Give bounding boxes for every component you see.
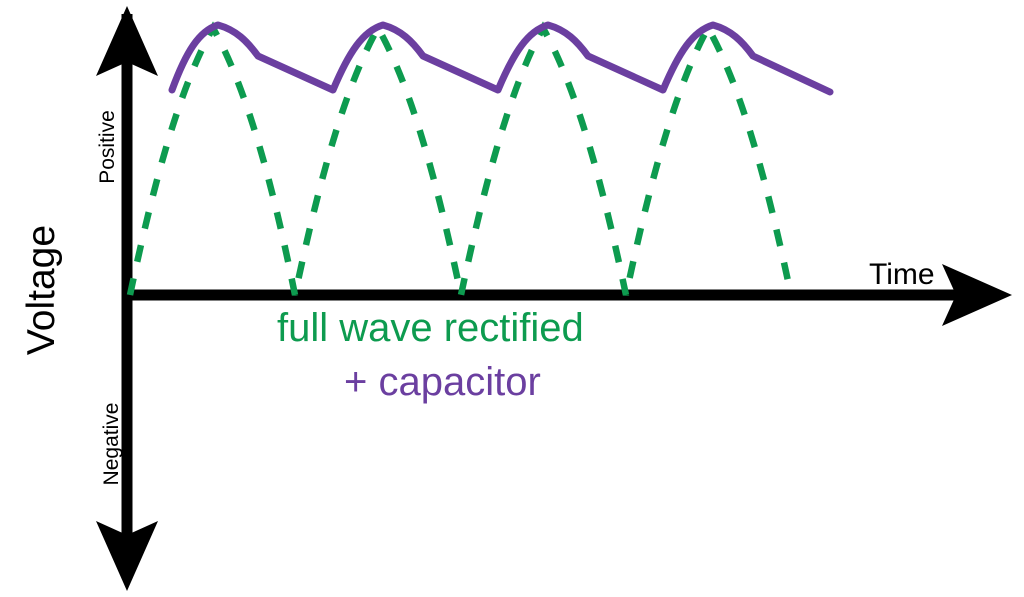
full-wave-rectified-curve — [130, 28, 791, 295]
legend-label-full-wave-rectified: full wave rectified — [277, 306, 584, 351]
figure-root: Voltage Positive Negative Time full wave… — [0, 0, 1024, 597]
waveform-plot — [0, 0, 1024, 597]
legend-label-capacitor: + capacitor — [344, 360, 541, 405]
y-axis-positive-label: Positive — [96, 87, 120, 207]
y-axis-title: Voltage — [20, 200, 64, 380]
x-axis-title: Time — [869, 258, 935, 292]
y-axis-negative-label: Negative — [100, 380, 124, 508]
